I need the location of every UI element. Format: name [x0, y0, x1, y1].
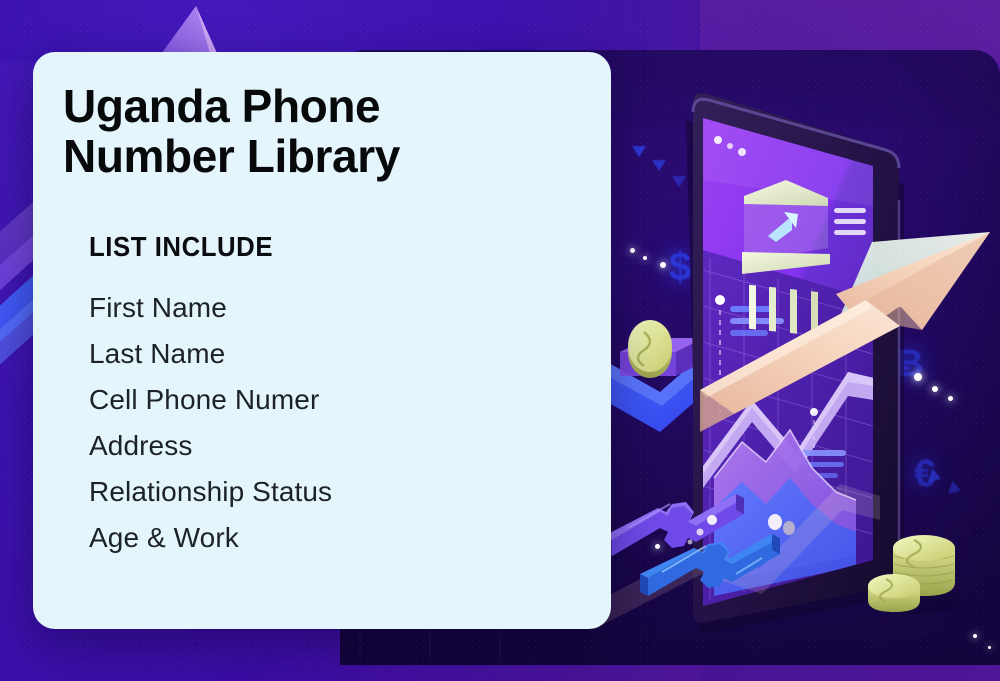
- sparkle-dot: [725, 516, 729, 520]
- sparkle-dot: [973, 634, 977, 638]
- sparkle-dot: [655, 544, 660, 549]
- sparkle-dot: [630, 248, 635, 253]
- sparkle-dot: [988, 646, 991, 649]
- page-title-line2: Number Library: [63, 130, 400, 182]
- list-item: Cell Phone Numer: [89, 377, 577, 423]
- sparkle-dot: [660, 262, 666, 268]
- sparkle-dot: [643, 256, 647, 260]
- sparkle-dot: [706, 525, 712, 531]
- list-item: First Name: [89, 285, 577, 331]
- triangle-decor-icon: [652, 160, 666, 171]
- sparkle-dot: [948, 396, 953, 401]
- included-fields-list: First Name Last Name Cell Phone Numer Ad…: [89, 285, 577, 560]
- info-card: Uganda PhoneNumber Library LIST INCLUDE …: [33, 52, 611, 629]
- sparkle-dot: [932, 386, 938, 392]
- banner-image: $ Ƀ €: [0, 0, 1000, 681]
- list-item: Last Name: [89, 331, 577, 377]
- triangle-decor-icon: [672, 176, 686, 187]
- list-include-heading: LIST INCLUDE: [89, 231, 538, 263]
- list-item: Relationship Status: [89, 469, 577, 515]
- page-title: Uganda PhoneNumber Library: [63, 82, 493, 181]
- list-item: Address: [89, 423, 577, 469]
- list-item: Age & Work: [89, 515, 577, 561]
- sparkle-dot: [914, 373, 922, 381]
- dollar-sign-glyph: $: [669, 247, 691, 287]
- page-title-line1: Uganda Phone: [63, 80, 380, 132]
- triangle-decor-icon: [632, 146, 646, 157]
